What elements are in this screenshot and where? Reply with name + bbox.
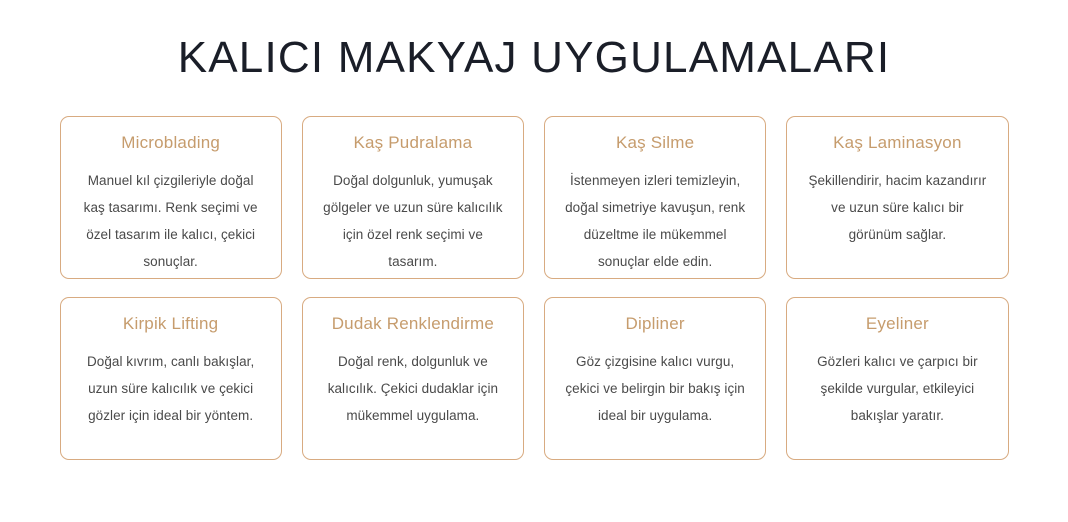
service-card-title: Kaş Silme (561, 131, 749, 155)
service-card-description: Doğal kıvrım, canlı bakışlar, uzun süre … (77, 348, 265, 429)
service-card[interactable]: Kaş Pudralama Doğal dolgunluk, yumuşak g… (302, 116, 524, 279)
service-card-description: Doğal dolgunluk, yumuşak gölgeler ve uzu… (319, 167, 507, 275)
service-card-title: Kaş Laminasyon (803, 131, 991, 155)
service-card-description: Göz çizgisine kalıcı vurgu, çekici ve be… (561, 348, 749, 429)
service-card[interactable]: Kirpik Lifting Doğal kıvrım, canlı bakış… (60, 297, 282, 460)
service-card[interactable]: Dudak Renklendirme Doğal renk, dolgunluk… (302, 297, 524, 460)
service-card-title: Dipliner (561, 312, 749, 336)
service-card-description: Gözleri kalıcı ve çarpıcı bir şekilde vu… (803, 348, 991, 429)
service-card[interactable]: Kaş Laminasyon Şekillendirir, hacim kaza… (786, 116, 1008, 279)
service-card-description: Manuel kıl çizgileriyle doğal kaş tasarı… (77, 167, 265, 275)
service-card-title: Kirpik Lifting (77, 312, 265, 336)
service-card-description: Şekillendirir, hacim kazandırır ve uzun … (803, 167, 991, 248)
service-card-title: Kaş Pudralama (319, 131, 507, 155)
page-title: KALICI MAKYAJ UYGULAMALARI (0, 0, 1068, 85)
page-container: KALICI MAKYAJ UYGULAMALARI Microblading … (0, 0, 1068, 522)
service-card[interactable]: Eyeliner Gözleri kalıcı ve çarpıcı bir ş… (786, 297, 1008, 460)
service-card-title: Dudak Renklendirme (319, 312, 507, 336)
service-card[interactable]: Dipliner Göz çizgisine kalıcı vurgu, çek… (544, 297, 766, 460)
service-card[interactable]: Microblading Manuel kıl çizgileriyle doğ… (60, 116, 282, 279)
service-card[interactable]: Kaş Silme İstenmeyen izleri temizleyin, … (544, 116, 766, 279)
service-card-description: Doğal renk, dolgunluk ve kalıcılık. Çeki… (319, 348, 507, 429)
service-card-title: Microblading (77, 131, 265, 155)
service-card-title: Eyeliner (803, 312, 991, 336)
service-card-description: İstenmeyen izleri temizleyin, doğal sime… (561, 167, 749, 275)
service-card-grid: Microblading Manuel kıl çizgileriyle doğ… (60, 116, 1009, 460)
